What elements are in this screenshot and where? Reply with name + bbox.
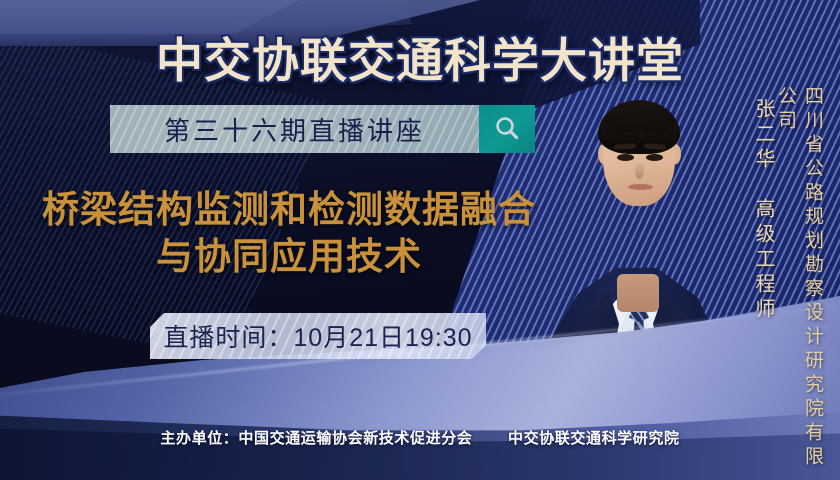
main-title: 中交协联交通科学大讲堂: [0, 22, 840, 91]
search-icon: [492, 114, 522, 144]
topic-line-1: 桥梁结构监测和检测数据融合: [24, 186, 554, 233]
footer-organizer-secondary: 中交协联交通科学研究院: [508, 430, 680, 447]
episode-bar: 第三十六期直播讲座: [110, 105, 535, 153]
episode-label: 第三十六期直播讲座: [164, 111, 425, 148]
portrait-nose: [635, 162, 644, 179]
portrait-eye-right: [646, 154, 663, 161]
portrait-neck: [617, 274, 659, 312]
portrait-hair: [598, 100, 680, 154]
broadcast-time-badge: 直播时间：10月21日19:30: [150, 313, 486, 359]
broadcast-time-text: 直播时间：10月21日19:30: [163, 318, 472, 354]
webinar-poster: 中交协联交通科学大讲堂 第三十六期直播讲座 桥梁结构监测和检测数据融合 与协同应…: [0, 0, 840, 480]
portrait-eye-left: [617, 154, 634, 161]
speaker-portrait: [545, 72, 720, 420]
footer-organizers: 主办单位：中国交通运输协会新技术促进分会 中交协联交通科学研究院: [0, 427, 840, 448]
portrait-mouth: [628, 184, 653, 190]
speaker-organization: 四川省公路规划勘察设计研究院有限公司: [772, 86, 826, 480]
episode-bar-body: 第三十六期直播讲座: [110, 105, 479, 153]
search-button[interactable]: [479, 105, 535, 153]
footer-organizer-primary: 主办单位：中国交通运输协会新技术促进分会: [160, 430, 472, 447]
topic-line-2: 与协同应用技术: [24, 233, 554, 280]
topic-title: 桥梁结构监测和检测数据融合 与协同应用技术: [24, 186, 554, 281]
